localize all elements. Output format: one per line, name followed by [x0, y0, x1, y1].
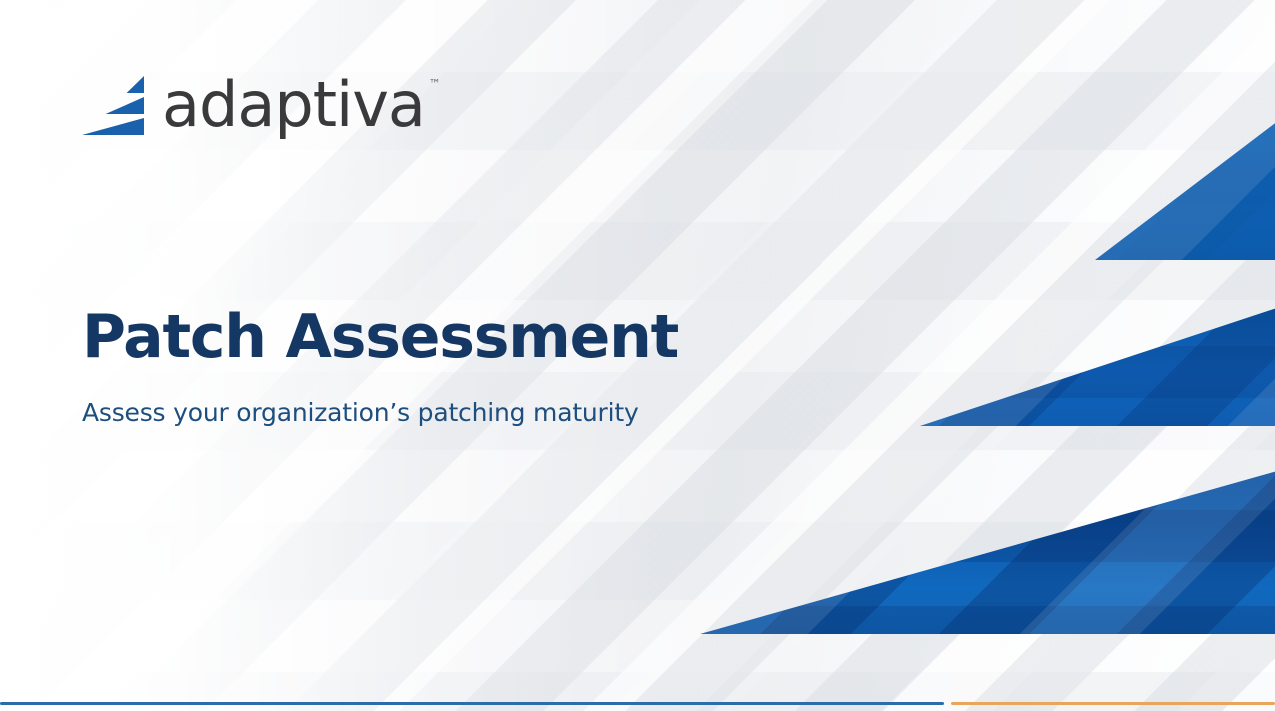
title-slide: adaptiva ™ Patch Assessment Assess your … [0, 0, 1275, 711]
trademark-symbol: ™ [429, 78, 441, 90]
footer-rule-orange [951, 702, 1275, 705]
blue-band-top-shading [1095, 108, 1275, 260]
triangle-bar-top [82, 76, 144, 93]
brand-logo: adaptiva ™ [82, 74, 425, 136]
triangle-bar-middle [82, 97, 144, 114]
brand-wordmark-text: adaptiva [162, 68, 425, 141]
brand-wordmark: adaptiva ™ [162, 74, 425, 136]
blue-band-bottom-shading [700, 466, 1275, 634]
adaptiva-triangle-icon [82, 74, 144, 136]
footer-rule-blue [0, 702, 944, 705]
blue-band-middle-shading [920, 302, 1275, 426]
triangle-bar-bottom [82, 118, 144, 135]
blue-band-middle [920, 302, 1275, 426]
blue-band-bottom [700, 466, 1275, 634]
page-title: Patch Assessment [82, 306, 678, 369]
blue-band-top [1095, 108, 1275, 260]
page-subtitle: Assess your organization’s patching matu… [82, 398, 639, 427]
